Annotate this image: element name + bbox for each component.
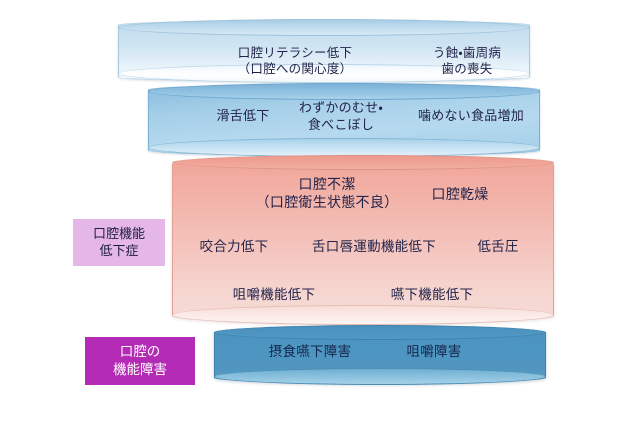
tier-3-item-1: 口腔乾燥: [390, 186, 530, 204]
tier-3-item-3: 舌口唇運動機能低下: [284, 238, 464, 255]
oral-function-decline-diagram: 口腔リテラシー低下 （口腔への関心度） う蝕・歯周病 歯の喪失 滑舌低下 わずか…: [0, 0, 640, 425]
tier-4-labels: 摂食嚥下障害 咀嚼障害: [214, 326, 546, 384]
tier-3-item-2: 咬合力低下: [174, 238, 294, 255]
tier-1-item-0: 口腔リテラシー低下 （口腔への関心度）: [210, 45, 380, 77]
tier-2-item-1: わずかのむせ・ 食べこぼし: [276, 100, 406, 133]
tier-3-item-5: 咀嚼機能低下: [204, 286, 344, 303]
tier-3-item-6: 嚥下機能低下: [362, 286, 502, 303]
side-label-oral-hypofunction: 口腔機能 低下症: [73, 219, 165, 266]
tier-2-labels: 滑舌低下 わずかのむせ・ 食べこぼし 噛めない食品増加: [148, 84, 540, 156]
tier-oral-hypofunction: 口腔不潔 （口腔衛生状態不良） 口腔乾燥 咬合力低下 舌口唇運動機能低下 低舌圧…: [172, 156, 554, 324]
tier-3-item-4: 低舌圧: [448, 238, 548, 255]
tier-oral-literacy: 口腔リテラシー低下 （口腔への関心度） う蝕・歯周病 歯の喪失: [118, 20, 530, 82]
tier-slight-decline: 滑舌低下 わずかのむせ・ 食べこぼし 噛めない食品増加: [148, 84, 540, 156]
tier-2-item-2: 噛めない食品増加: [396, 108, 546, 125]
tier-4-item-0: 摂食嚥下障害: [240, 343, 380, 360]
tier-1-item-1: う蝕・歯周病 歯の喪失: [392, 45, 542, 77]
side-label-oral-functional-disorder: 口腔の 機能障害: [85, 337, 195, 385]
tier-4-item-1: 咀嚼障害: [374, 343, 494, 360]
tier-1-labels: 口腔リテラシー低下 （口腔への関心度） う蝕・歯周病 歯の喪失: [118, 20, 530, 82]
tier-functional-disorder: 摂食嚥下障害 咀嚼障害: [214, 326, 546, 384]
tier-3-labels: 口腔不潔 （口腔衛生状態不良） 口腔乾燥 咬合力低下 舌口唇運動機能低下 低舌圧…: [172, 156, 554, 324]
